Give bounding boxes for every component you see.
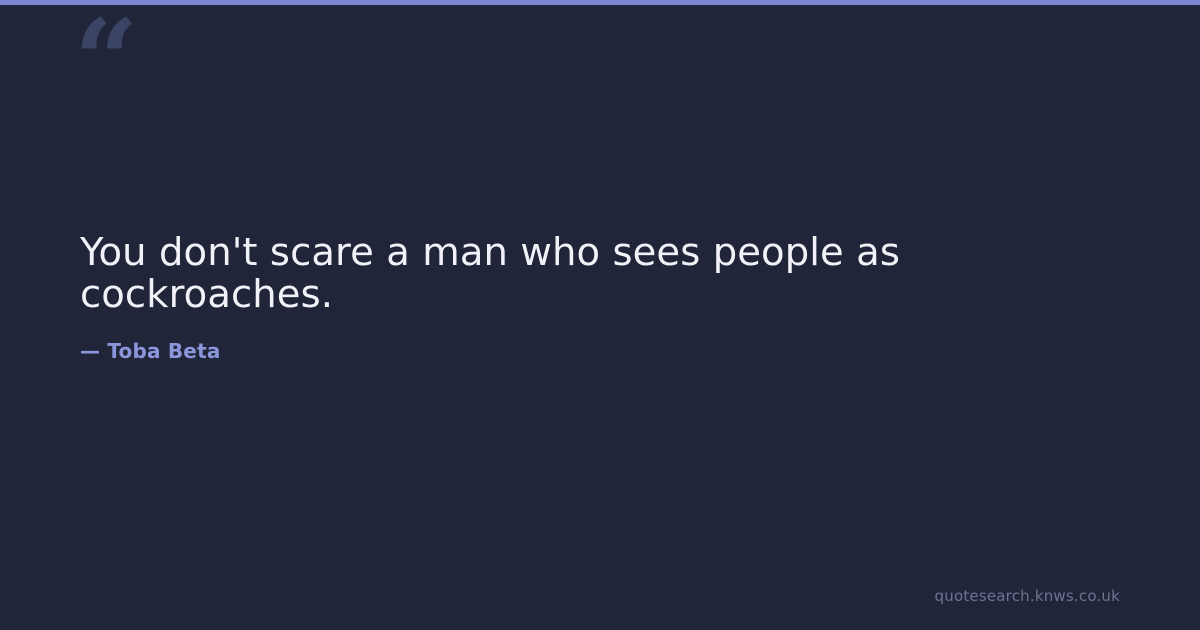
quote-text: You don't scare a man who sees people as…: [80, 232, 960, 316]
site-watermark: quotesearch.knws.co.uk: [935, 587, 1120, 605]
quote-content: You don't scare a man who sees people as…: [80, 232, 980, 364]
top-accent-bar: [0, 0, 1200, 5]
quote-card: “ You don't scare a man who sees people …: [0, 0, 1200, 630]
double-quote-open-icon: “: [74, 6, 144, 86]
quote-author: — Toba Beta: [80, 316, 980, 364]
